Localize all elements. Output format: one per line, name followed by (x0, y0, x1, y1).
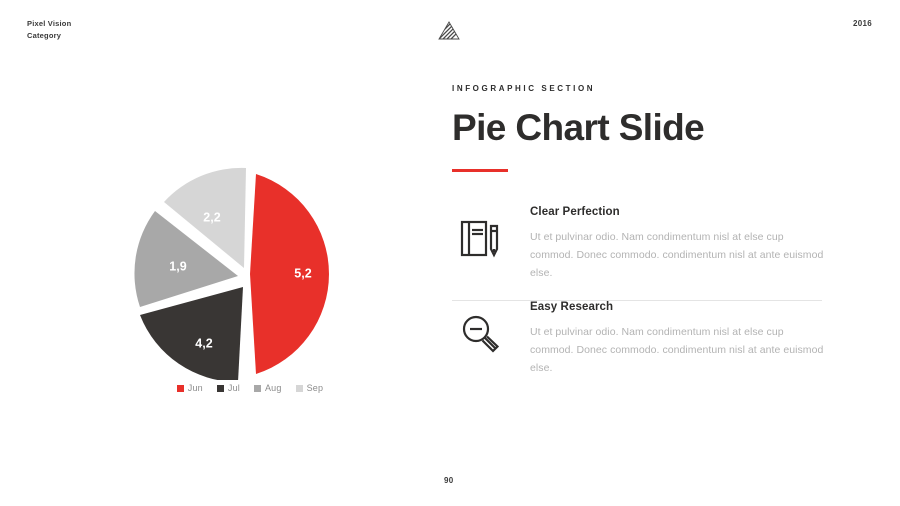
legend-label-sep: Sep (307, 383, 324, 393)
pie-slice-label-sep: 2,2 (203, 210, 220, 224)
content-panel: INFOGRAPHIC SECTION Pie Chart Slide (452, 84, 824, 395)
section-eyebrow: INFOGRAPHIC SECTION (452, 84, 824, 93)
feature-text: Ut et pulvinar odio. Nam condimentum nis… (530, 228, 824, 282)
slide-canvas: Pixel Vision Category 2016 (0, 0, 900, 506)
feature-item-clear-perfection[interactable]: Clear Perfection Ut et pulvinar odio. Na… (452, 206, 824, 300)
legend-label-jun: Jun (188, 383, 203, 393)
feature-body: Clear Perfection Ut et pulvinar odio. Na… (530, 206, 824, 282)
feature-title: Easy Research (530, 301, 824, 313)
legend-swatch-jul (217, 385, 224, 392)
brand-block: Pixel Vision Category (27, 18, 71, 42)
legend-item-sep[interactable]: Sep (296, 383, 324, 393)
year-label: 2016 (853, 19, 872, 28)
pie-slice-label-jun: 5,2 (294, 266, 311, 280)
legend-item-jun[interactable]: Jun (177, 383, 203, 393)
feature-text: Ut et pulvinar odio. Nam condimentum nis… (530, 323, 824, 377)
page-title: Pie Chart Slide (452, 109, 824, 148)
pie-chart: 5,2 4,2 1,9 2,2 Jun (60, 140, 440, 420)
legend-item-jul[interactable]: Jul (217, 383, 240, 393)
brand-category: Category (27, 30, 71, 42)
pie-slice-jun[interactable]: 5,2 (250, 174, 329, 374)
legend-item-aug[interactable]: Aug (254, 383, 282, 393)
triangle-hatch-logo-icon (437, 21, 461, 41)
legend-label-aug: Aug (265, 383, 282, 393)
pie-chart-legend: Jun Jul Aug Sep (60, 383, 440, 393)
legend-swatch-aug (254, 385, 261, 392)
legend-label-jul: Jul (228, 383, 240, 393)
pie-slice-label-aug: 1,9 (169, 259, 186, 273)
feature-list: Clear Perfection Ut et pulvinar odio. Na… (452, 206, 824, 395)
notebook-pencil-icon (452, 206, 508, 266)
legend-swatch-sep (296, 385, 303, 392)
feature-item-easy-research[interactable]: Easy Research Ut et pulvinar odio. Nam c… (452, 301, 824, 395)
feature-body: Easy Research Ut et pulvinar odio. Nam c… (530, 301, 824, 377)
brand-name: Pixel Vision (27, 18, 71, 30)
page-number: 90 (444, 476, 454, 485)
magnifier-minus-icon (452, 301, 508, 361)
legend-swatch-jun (177, 385, 184, 392)
pie-chart-svg: 5,2 4,2 1,9 2,2 (60, 140, 440, 380)
pie-slice-label-jul: 4,2 (195, 336, 212, 350)
feature-title: Clear Perfection (530, 206, 824, 218)
title-underline-rule (452, 169, 508, 172)
